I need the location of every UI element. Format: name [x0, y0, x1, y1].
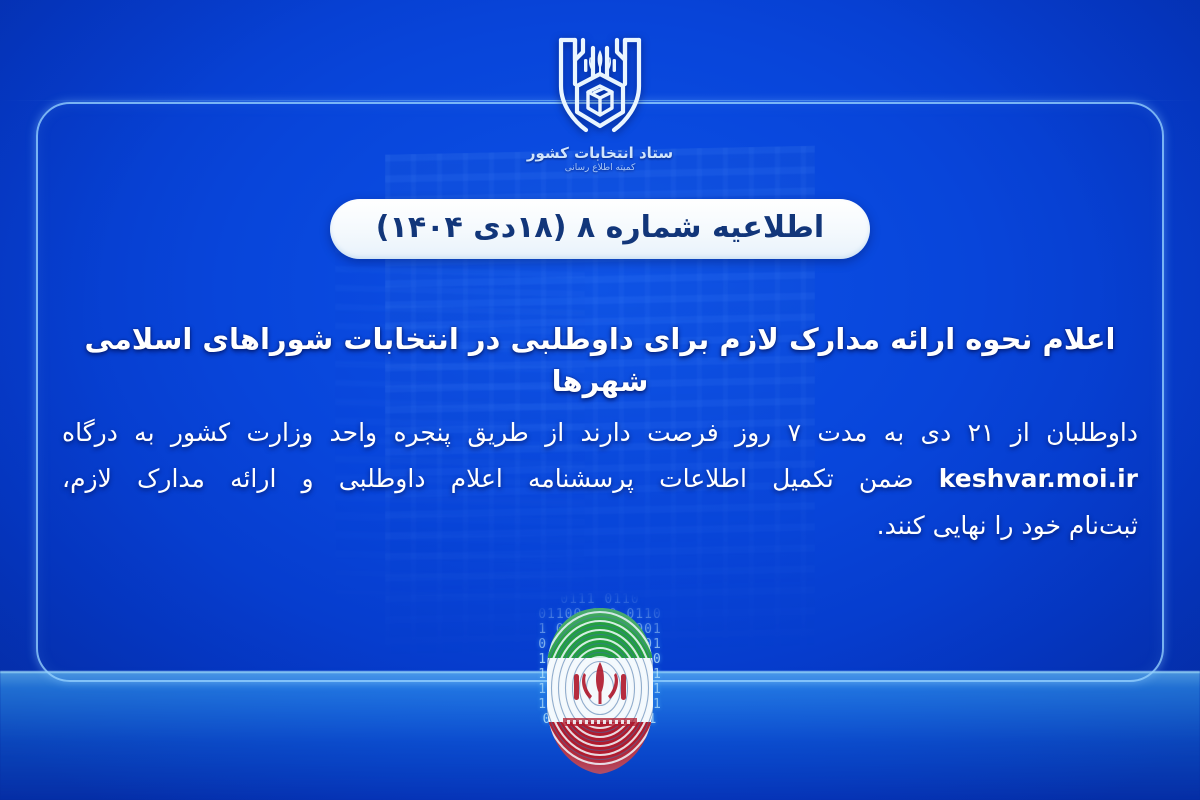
announcement-poster: ستاد انتخابات کشور کمیته اطلاع رسانی اطل…	[0, 0, 1200, 800]
body-line-2: keshvar.moi.ir ضمن تکمیل اطلاعات پرسشنام…	[62, 456, 1138, 502]
body-line-2-text: ضمن تکمیل اطلاعات پرسشنامه اعلام داوطلبی…	[62, 464, 914, 493]
body-line-1: داوطلبان از ۲۱ دی به مدت ۷ روز فرصت دارن…	[62, 410, 1138, 456]
announcement-badge: اطلاعیه شماره ۸ (۱۸دی ۱۴۰۴)	[330, 199, 870, 259]
announcement-badge-row: اطلاعیه شماره ۸ (۱۸دی ۱۴۰۴)	[0, 199, 1200, 259]
election-headquarters-shield-icon	[541, 30, 659, 142]
organization-emblem: ستاد انتخابات کشور کمیته اطلاع رسانی	[0, 30, 1200, 173]
announcement-body: داوطلبان از ۲۱ دی به مدت ۷ روز فرصت دارن…	[62, 410, 1138, 549]
announcement-badge-text: اطلاعیه شماره ۸ (۱۸دی ۱۴۰۴)	[376, 209, 824, 247]
body-line-3: ثبت‌نام خود را نهایی کنند.	[62, 503, 1138, 549]
footer-fingerprint-mark: 0111 0110 01100 1 0 0110 1 01 0 01001 0 …	[485, 592, 715, 797]
page-title: اعلام نحوه ارائه مدارک لازم برای داوطلبی…	[70, 318, 1130, 402]
emblem-title: ستاد انتخابات کشور	[527, 144, 673, 162]
emblem-subtitle: کمیته اطلاع رسانی	[565, 163, 636, 173]
registration-portal-url[interactable]: keshvar.moi.ir	[939, 464, 1138, 493]
iran-emblem-tulip-icon	[584, 50, 616, 73]
